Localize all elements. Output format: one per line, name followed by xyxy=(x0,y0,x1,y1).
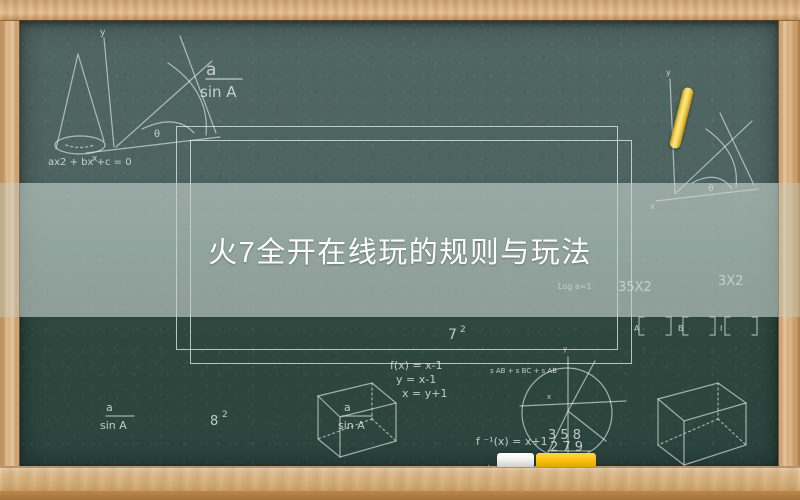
note-35x2: 35X2 xyxy=(618,280,652,295)
ledge-lip xyxy=(0,491,800,500)
note-theta-right: θ xyxy=(708,184,714,194)
ledge-top-edge xyxy=(0,466,800,468)
note-matrix-i: I xyxy=(720,324,722,333)
note-axis-x: x xyxy=(92,154,98,164)
note-fraction-sinA: sin A xyxy=(200,83,237,101)
note-frac-a-left: a xyxy=(106,401,113,414)
note-fraction-a: a xyxy=(206,60,216,80)
yellow-chalk-stick-icon xyxy=(669,87,695,150)
chalkboard-banner: a sin A ax2 + bx +c = 0 y x θ y x θ f(x)… xyxy=(0,0,800,500)
note-theta: θ xyxy=(154,129,160,140)
note-axis-y: y xyxy=(100,28,106,38)
note-inverse-fn: f ⁻¹(x) = x+1 xyxy=(476,435,548,448)
note-fx: f(x) = x-1 xyxy=(390,359,443,372)
note-seven: 7 xyxy=(448,327,457,343)
note-y-eq: y = x-1 xyxy=(396,373,436,386)
note-circle-axis-y: y xyxy=(563,345,567,353)
note-log-a: Log a=1 xyxy=(558,282,592,291)
note-addend1: 3 5 8 xyxy=(548,428,581,443)
note-axis-y-right: y xyxy=(666,68,671,77)
note-sum-expr: s AB + s BC + s AB xyxy=(490,367,557,375)
chalk-drawings: a sin A ax2 + bx +c = 0 y x θ y x θ f(x)… xyxy=(20,21,778,466)
decorative-outline-inner xyxy=(190,140,632,364)
white-chalk-icon xyxy=(497,453,534,467)
note-matrix-b: B xyxy=(678,324,684,333)
note-eight-exp: 2 xyxy=(222,410,228,420)
note-frac-sinA-mid: sin A xyxy=(338,419,365,432)
chalk-ledge xyxy=(0,466,800,500)
chalkboard-surface: a sin A ax2 + bx +c = 0 y x θ y x θ f(x)… xyxy=(20,21,778,466)
note-quadratic: ax2 + bx +c = 0 xyxy=(48,157,132,168)
frame-top-rail xyxy=(0,0,800,21)
frame-left-rail xyxy=(0,0,20,500)
note-seven-exp: 2 xyxy=(460,325,466,335)
note-x-eq: x = y+1 xyxy=(402,387,447,400)
note-frac-sinA-left: sin A xyxy=(100,419,127,432)
note-axis-x-right: x xyxy=(650,202,655,211)
note-frac-a-mid: a xyxy=(344,401,351,414)
title-highlight-band xyxy=(20,183,778,317)
note-3x2: 3X2 xyxy=(718,274,743,289)
note-eight: 8 xyxy=(210,414,218,429)
note-matrix-a: A xyxy=(634,324,640,333)
board-texture xyxy=(20,21,778,466)
decorative-outline-outer xyxy=(176,126,618,350)
frame-right-rail xyxy=(778,0,800,500)
yellow-chalk-icon xyxy=(536,453,596,467)
note-circle-axis-x: x xyxy=(547,393,551,401)
